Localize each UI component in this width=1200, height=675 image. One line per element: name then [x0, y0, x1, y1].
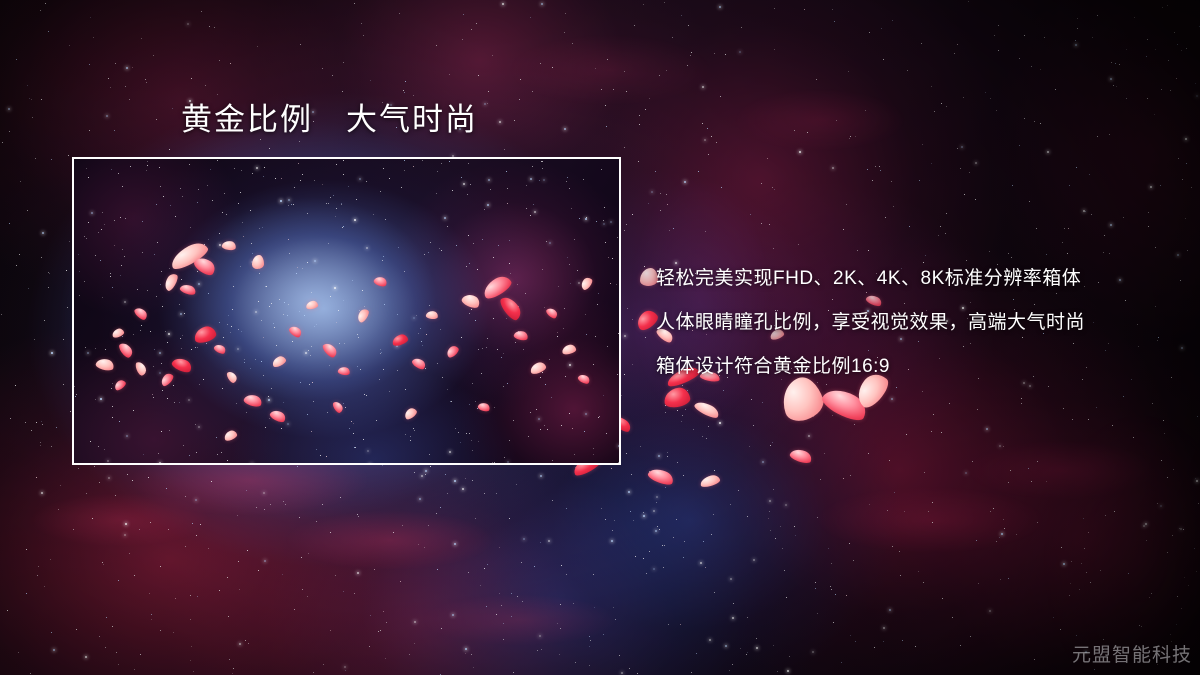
body-text-line-3: 箱体设计符合黄金比例16:9 — [656, 345, 1176, 389]
framed-image — [72, 157, 621, 465]
petal — [693, 399, 721, 421]
petal — [663, 386, 691, 408]
petal — [789, 447, 814, 466]
watermark: 元盟智能科技 — [1072, 640, 1192, 667]
body-text-line-2: 人体眼睛瞳孔比例，享受视觉效果，高端大气时尚 — [656, 301, 1176, 345]
petal — [647, 466, 676, 488]
body-text-line-1: 轻松完美实现FHD、2K、4K、8K标准分辨率箱体 — [656, 257, 1176, 301]
framed-image-nebula — [74, 159, 619, 463]
slide-canvas: 黄金比例 大气时尚 轻松完美实现FHD、2K、4K、8K标准分辨率箱体 人体眼睛… — [0, 0, 1200, 675]
framed-image-scene — [74, 159, 619, 463]
petal — [699, 474, 721, 489]
body-text-block: 轻松完美实现FHD、2K、4K、8K标准分辨率箱体 人体眼睛瞳孔比例，享受视觉效… — [656, 257, 1176, 389]
page-title: 黄金比例 大气时尚 — [181, 103, 478, 138]
petal — [252, 255, 264, 269]
